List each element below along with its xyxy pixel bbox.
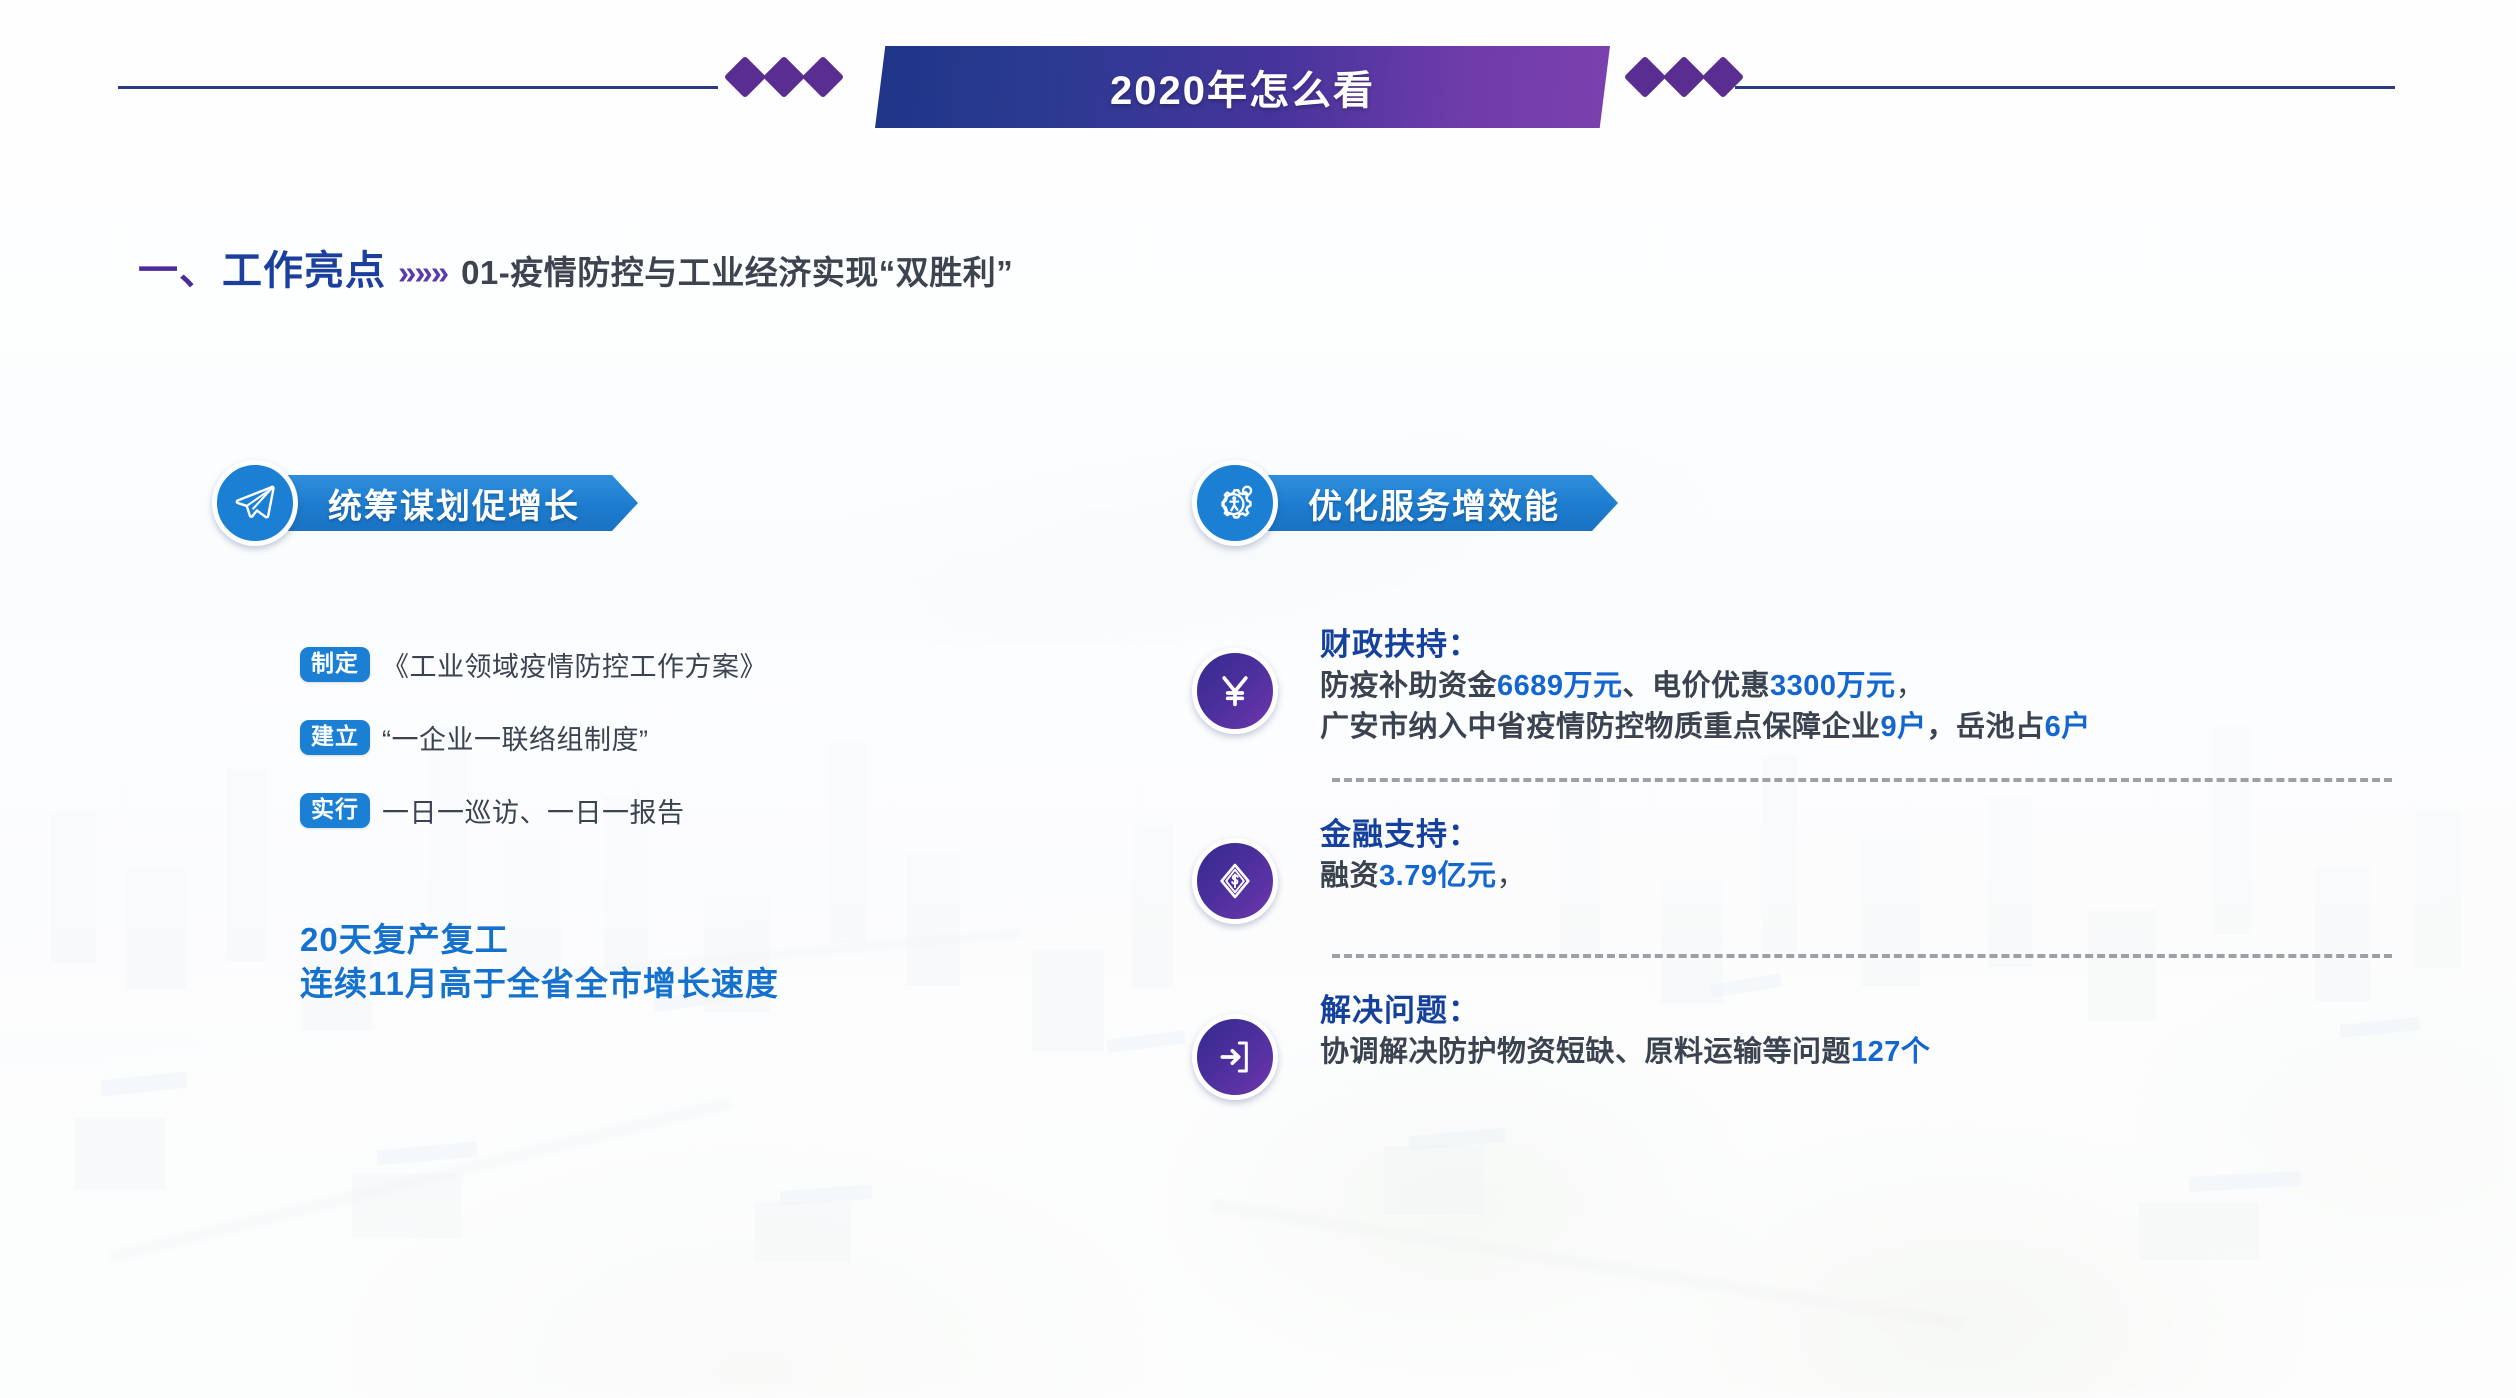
right-block-problem-solving: 解决问题： 协调解决防护物资短缺、原料运输等问题127个 xyxy=(1192,988,2372,1100)
ribbon-icon-circle-left xyxy=(212,460,298,546)
diamond-icon xyxy=(1663,56,1705,98)
right-content-column: 财政扶持： 防疫补助资金6689万元、电价优惠3300万元， 广安市纳入中省疫情… xyxy=(1192,622,2372,1100)
chevron-right-icon: »»» xyxy=(398,254,447,292)
block-heading: 财政扶持： xyxy=(1320,624,2091,666)
diamond-icon xyxy=(802,56,844,98)
ribbon-bar-right: 优化服务增效能 xyxy=(1262,475,1618,531)
ribbon-bar-left: 统筹谋划促增长 xyxy=(282,475,638,531)
banknote-money-icon xyxy=(1215,861,1255,901)
list-item-text: 《工业领域疫情防控工作方案》 xyxy=(382,645,767,684)
left-section-label: 统筹谋划促增长 xyxy=(328,479,580,528)
header-rule-right xyxy=(1735,86,2395,89)
text-plain: 协调解决防护物资短缺、原料运输等问题 xyxy=(1320,1036,1851,1068)
list-item: 建立 “一企业一联络组制度” xyxy=(300,718,767,757)
list-item-text: 一日一巡访、一日一报告 xyxy=(382,791,685,830)
left-highlight-block: 20天复产复工 连续11月高于全省全市增长速度 xyxy=(300,918,779,1005)
diamond-icon xyxy=(763,56,805,98)
text-highlight: 127个 xyxy=(1851,1036,1930,1068)
block-icon-circle xyxy=(1192,648,1278,734)
slide-header: 2020年怎么看 xyxy=(0,0,2516,150)
section-title: 一、 工作亮点 »»» 01-疫情防控与工业经济实现“双胜利” xyxy=(138,238,1013,296)
left-section-ribbon: 统筹谋划促增长 xyxy=(212,460,638,546)
text-plain: 防疫补助资金 xyxy=(1320,670,1497,702)
diamond-icon xyxy=(1624,56,1666,98)
block-body: 金融支持： 融资3.79亿元， xyxy=(1320,812,1526,897)
text-highlight: 9户 xyxy=(1881,711,1927,743)
diamond-icon xyxy=(1702,56,1744,98)
list-item-tag: 建立 xyxy=(300,720,370,755)
text-plain: ， xyxy=(1896,670,1926,702)
ribbon-icon-circle-right xyxy=(1192,460,1278,546)
banner-title-plate: 2020年怎么看 xyxy=(875,46,1610,128)
left-highlight-line-1: 20天复产复工 xyxy=(300,918,779,962)
block-body: 财政扶持： 防疫补助资金6689万元、电价优惠3300万元， 广安市纳入中省疫情… xyxy=(1320,622,2091,748)
yuan-currency-icon xyxy=(1215,671,1255,711)
section-title-main: 工作亮点 xyxy=(222,238,386,296)
block-heading: 解决问题： xyxy=(1320,990,1930,1032)
text-highlight: 6户 xyxy=(2045,711,2091,743)
banner-title-text: 2020年怎么看 xyxy=(1110,58,1375,116)
list-item: 实行 一日一巡访、一日一报告 xyxy=(300,791,767,830)
text-plain: ，岳池占 xyxy=(1927,711,2045,743)
block-divider xyxy=(1332,778,2392,782)
diamond-icon xyxy=(724,56,766,98)
section-title-number: 一、 xyxy=(138,238,220,296)
block-line: 广安市纳入中省疫情防控物质重点保障企业9户，岳池占6户 xyxy=(1320,707,2091,748)
arrow-into-door-icon xyxy=(1215,1037,1255,1077)
right-block-finance: 财政扶持： 防疫补助资金6689万元、电价优惠3300万元， 广安市纳入中省疫情… xyxy=(1192,622,2372,748)
list-item: 制定 《工业领域疫情防控工作方案》 xyxy=(300,645,767,684)
left-highlight-line-2: 连续11月高于全省全市增长速度 xyxy=(300,962,779,1006)
left-bullet-list: 制定 《工业领域疫情防控工作方案》 建立 “一企业一联络组制度” 实行 一日一巡… xyxy=(300,645,767,864)
diamond-cluster-right xyxy=(1630,62,1738,92)
block-divider xyxy=(1332,954,2392,958)
block-icon-circle xyxy=(1192,838,1278,924)
text-highlight: 6689万元 xyxy=(1497,670,1623,702)
gear-runner-icon xyxy=(1212,480,1258,526)
right-section-ribbon: 优化服务增效能 xyxy=(1192,460,1618,546)
block-heading: 金融支持： xyxy=(1320,814,1526,856)
paper-plane-icon xyxy=(233,481,277,525)
text-highlight: 3300万元 xyxy=(1770,670,1896,702)
block-icon-circle xyxy=(1192,1014,1278,1100)
diamond-cluster-left xyxy=(730,62,838,92)
section-title-subtitle: 01-疫情防控与工业经济实现“双胜利” xyxy=(461,246,1013,294)
header-rule-left xyxy=(118,86,718,89)
block-body: 解决问题： 协调解决防护物资短缺、原料运输等问题127个 xyxy=(1320,988,1930,1073)
text-plain: 广安市纳入中省疫情防控物质重点保障企业 xyxy=(1320,711,1881,743)
text-highlight: 3.79亿元 xyxy=(1379,860,1496,892)
text-plain: ， xyxy=(1496,860,1526,892)
list-item-tag: 制定 xyxy=(300,647,370,682)
block-line: 协调解决防护物资短缺、原料运输等问题127个 xyxy=(1320,1032,1930,1073)
right-block-financial-support: 金融支持： 融资3.79亿元， xyxy=(1192,812,2372,924)
block-line: 防疫补助资金6689万元、电价优惠3300万元， xyxy=(1320,666,2091,707)
list-item-tag: 实行 xyxy=(300,793,370,828)
text-plain: 、电价优惠 xyxy=(1623,670,1771,702)
text-plain: 融资 xyxy=(1320,860,1379,892)
slide-root: 2020年怎么看 一、 工作亮点 »»» 01-疫情防控与工业经济实现“双胜利”… xyxy=(0,0,2516,1398)
list-item-text: “一企业一联络组制度” xyxy=(382,718,648,757)
right-section-label: 优化服务增效能 xyxy=(1308,479,1560,528)
block-line: 融资3.79亿元， xyxy=(1320,856,1526,897)
